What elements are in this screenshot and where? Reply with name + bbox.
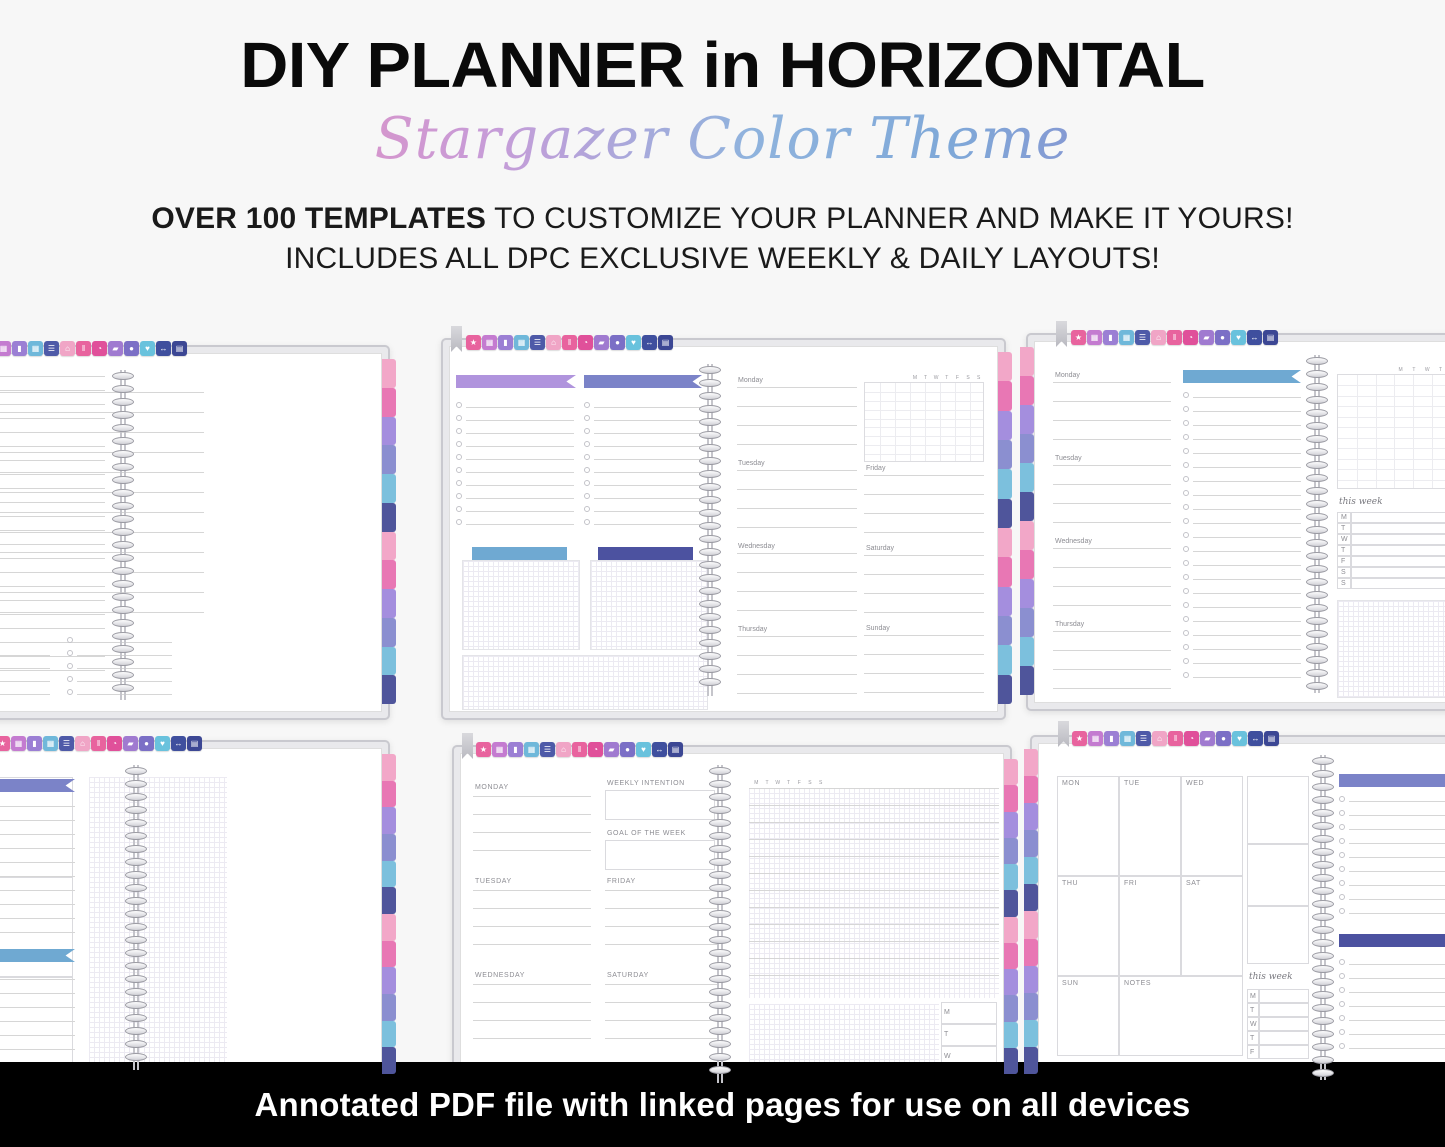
side-tab[interactable] (998, 499, 1012, 528)
side-tab[interactable] (1020, 666, 1034, 695)
checkbox-circle[interactable] (1339, 894, 1345, 900)
side-color-tabs[interactable] (1020, 347, 1034, 695)
mini-day-row[interactable] (941, 1024, 997, 1046)
side-tab[interactable] (382, 474, 396, 503)
side-tab[interactable] (1024, 749, 1038, 776)
star-icon[interactable]: ★ (476, 742, 491, 757)
list-icon[interactable]: ☰ (530, 335, 545, 350)
checkbox-circle[interactable] (1183, 392, 1189, 398)
side-tab[interactable] (998, 381, 1012, 410)
side-tab[interactable] (1020, 637, 1034, 666)
side-tab[interactable] (382, 647, 396, 676)
ruled-line (1053, 439, 1171, 440)
list-icon[interactable]: ☰ (540, 742, 555, 757)
home-icon[interactable]: ⌂ (1151, 330, 1166, 345)
spiral-coil (112, 554, 134, 562)
field-label: this week (1249, 972, 1293, 982)
checkbox-circle[interactable] (67, 637, 73, 643)
side-tab[interactable] (1004, 1048, 1018, 1074)
checkbox-circle[interactable] (1183, 574, 1189, 580)
spread-week-grid[interactable]: MONTUEWEDTHUFRISATSUNNOTESthis weekMTWTF… (1030, 735, 1445, 1090)
habit-tracker[interactable] (1337, 374, 1445, 489)
side-tab[interactable] (382, 781, 396, 808)
side-tab[interactable] (998, 528, 1012, 557)
grid-cell[interactable] (1247, 844, 1309, 906)
checkbox-circle[interactable] (1183, 532, 1189, 538)
book-icon[interactable]: ▤ (187, 736, 202, 751)
side-tab[interactable] (1024, 993, 1038, 1020)
side-tab[interactable] (998, 645, 1012, 674)
calendar-icon[interactable]: ▦ (1087, 330, 1102, 345)
this-week-row[interactable] (1351, 578, 1445, 589)
book-icon[interactable]: ▤ (1264, 731, 1279, 746)
pin-icon[interactable]: ● (1216, 731, 1231, 746)
lock-icon[interactable]: ▮ (1103, 330, 1118, 345)
checkbox-circle[interactable] (456, 506, 462, 512)
grid-area (1337, 600, 1445, 698)
calendar-icon[interactable]: ▦ (0, 341, 11, 356)
checkbox-circle[interactable] (1183, 658, 1189, 664)
side-color-tabs[interactable] (1024, 749, 1038, 1074)
grid-cell[interactable] (1119, 776, 1181, 876)
book-icon[interactable]: ▤ (658, 335, 673, 350)
side-color-tabs[interactable] (1004, 759, 1018, 1074)
calendar-icon[interactable]: ▦ (482, 335, 497, 350)
grid-cell[interactable] (1247, 776, 1309, 844)
side-tab[interactable] (1024, 884, 1038, 911)
side-tab[interactable] (1024, 857, 1038, 884)
home-icon[interactable]: ⌂ (556, 742, 571, 757)
side-tab[interactable] (998, 440, 1012, 469)
checkbox-circle[interactable] (1339, 973, 1345, 979)
grid-cell[interactable] (0, 877, 73, 977)
checkbox-circle[interactable] (1339, 810, 1345, 816)
side-tab[interactable] (1024, 911, 1038, 938)
book-icon[interactable]: ▤ (172, 341, 187, 356)
clock-icon[interactable]: ◔ (1184, 731, 1199, 746)
side-tab[interactable] (382, 675, 396, 704)
checklist-line (1349, 871, 1445, 872)
spread-daily-checklist[interactable]: MondayTuesdayWednesdayThursdayMTWTFSSthi… (1026, 333, 1445, 711)
heart-icon[interactable]: ♥ (155, 736, 170, 751)
checkbox-circle[interactable] (1339, 796, 1345, 802)
checkbox-circle[interactable] (67, 689, 73, 695)
folder-icon[interactable]: ▰ (604, 742, 619, 757)
side-tab[interactable] (1024, 1020, 1038, 1047)
star-icon[interactable]: ★ (466, 335, 481, 350)
checkbox-circle[interactable] (584, 493, 590, 499)
side-tab[interactable] (998, 557, 1012, 586)
checkbox-circle[interactable] (1183, 476, 1189, 482)
side-tab[interactable] (382, 503, 396, 532)
checkbox-circle[interactable] (67, 676, 73, 682)
calendar-icon[interactable]: ▦ (11, 736, 26, 751)
folder-icon[interactable]: ▰ (594, 335, 609, 350)
spiral-coil (699, 444, 721, 452)
side-tab[interactable] (1024, 966, 1038, 993)
field-label: T (1341, 547, 1345, 554)
tracker-col (940, 383, 941, 461)
grid-icon[interactable]: ▦ (1120, 731, 1135, 746)
side-tab[interactable] (382, 532, 396, 561)
star-icon[interactable]: ★ (0, 736, 10, 751)
this-week-row[interactable] (1351, 512, 1445, 523)
checkbox-circle[interactable] (584, 467, 590, 473)
checkbox-circle[interactable] (456, 441, 462, 447)
folder-icon[interactable]: ▰ (1200, 731, 1215, 746)
checkbox-circle[interactable] (584, 480, 590, 486)
spiral-coil (1306, 552, 1328, 560)
heart-icon[interactable]: ♥ (636, 742, 651, 757)
spread-monthly-checklist[interactable]: WEDSAT★▦▮▦☰⌂‖◔▰●♥↔▤ (0, 740, 390, 1090)
checkbox-circle[interactable] (584, 415, 590, 421)
home-icon[interactable]: ⌂ (1152, 731, 1167, 746)
side-tab[interactable] (1020, 376, 1034, 405)
side-tab[interactable] (382, 994, 396, 1021)
arrows-icon[interactable]: ↔ (642, 335, 657, 350)
clock-icon[interactable]: ◔ (578, 335, 593, 350)
side-tab[interactable] (998, 411, 1012, 440)
arrows-icon[interactable]: ↔ (171, 736, 186, 751)
grid-cell[interactable] (1247, 906, 1309, 964)
cutlery-icon[interactable]: ‖ (562, 335, 577, 350)
side-tab[interactable] (1004, 969, 1018, 995)
list-icon[interactable]: ☰ (1136, 731, 1151, 746)
grid-icon[interactable]: ▦ (514, 335, 529, 350)
home-icon[interactable]: ⌂ (60, 341, 75, 356)
grid-icon[interactable]: ▦ (28, 341, 43, 356)
cutlery-icon[interactable]: ‖ (1168, 731, 1183, 746)
side-tab[interactable] (1020, 492, 1034, 521)
list-icon[interactable]: ☰ (1135, 330, 1150, 345)
side-tab[interactable] (382, 967, 396, 994)
checklist-line (0, 806, 75, 807)
lock-icon[interactable]: ▮ (498, 335, 513, 350)
grid-area (462, 655, 708, 710)
side-tab[interactable] (382, 941, 396, 968)
cutlery-icon[interactable]: ‖ (572, 742, 587, 757)
clock-icon[interactable]: ◔ (588, 742, 603, 757)
side-tab[interactable] (382, 388, 396, 417)
checkbox-circle[interactable] (456, 454, 462, 460)
side-tab[interactable] (382, 914, 396, 941)
checkbox-circle[interactable] (456, 428, 462, 434)
side-tab[interactable] (1004, 812, 1018, 838)
pin-icon[interactable]: ● (610, 335, 625, 350)
tracker-day: S (815, 780, 826, 786)
heart-icon[interactable]: ♥ (1231, 330, 1246, 345)
checkbox-circle[interactable] (456, 519, 462, 525)
checkbox-circle[interactable] (1339, 824, 1345, 830)
pin-icon[interactable]: ● (620, 742, 635, 757)
habit-tracker[interactable] (864, 382, 984, 462)
side-tab[interactable] (998, 352, 1012, 381)
side-tab[interactable] (1020, 347, 1034, 376)
checkbox-circle[interactable] (1183, 672, 1189, 678)
list-icon[interactable]: ☰ (44, 341, 59, 356)
side-tab[interactable] (1024, 803, 1038, 830)
grid-cell[interactable] (1181, 776, 1243, 876)
grid-cell[interactable] (1181, 876, 1243, 976)
side-tab[interactable] (382, 1021, 396, 1048)
side-tab[interactable] (382, 861, 396, 888)
weekly-intention-box[interactable] (605, 790, 715, 820)
tracker-day: S (963, 375, 974, 381)
checkbox-circle[interactable] (1339, 1001, 1345, 1007)
checkbox-circle[interactable] (584, 506, 590, 512)
side-tab[interactable] (998, 587, 1012, 616)
arrows-icon[interactable]: ↔ (1248, 731, 1263, 746)
this-week-row[interactable] (1351, 534, 1445, 545)
side-tab[interactable] (1020, 550, 1034, 579)
checklist-line (1349, 1020, 1445, 1021)
checkbox-circle[interactable] (1183, 434, 1189, 440)
side-tab[interactable] (1004, 1022, 1018, 1048)
this-week-row[interactable] (1351, 556, 1445, 567)
side-tab[interactable] (1020, 579, 1034, 608)
side-tab[interactable] (1004, 890, 1018, 916)
ruled-line (737, 674, 857, 675)
cutlery-icon[interactable]: ‖ (76, 341, 91, 356)
home-icon[interactable]: ⌂ (75, 736, 90, 751)
folder-icon[interactable]: ▰ (1199, 330, 1214, 345)
grid-icon[interactable]: ▦ (43, 736, 58, 751)
this-week-row[interactable] (1351, 545, 1445, 556)
checklist-line (0, 848, 75, 849)
side-color-tabs[interactable] (382, 359, 396, 704)
side-tab[interactable] (1004, 759, 1018, 785)
spiral-coil (1306, 461, 1328, 469)
checkbox-circle[interactable] (1183, 448, 1189, 454)
folder-icon[interactable]: ▰ (108, 341, 123, 356)
side-tab[interactable] (1020, 463, 1034, 492)
checkbox-circle[interactable] (1339, 959, 1345, 965)
this-week-row[interactable] (1351, 567, 1445, 578)
spread-weekly-intention[interactable]: MONDAYTUESDAYWEDNESDAYTHURSDAYWEEKLY INT… (452, 745, 1012, 1090)
book-icon[interactable]: ▤ (668, 742, 683, 757)
lock-icon[interactable]: ▮ (508, 742, 523, 757)
this-week-row[interactable] (1259, 1045, 1309, 1059)
tagline-bold: OVER 100 TEMPLATES (151, 202, 486, 235)
side-tab[interactable] (382, 417, 396, 446)
side-tab[interactable] (382, 359, 396, 388)
heart-icon[interactable]: ♥ (626, 335, 641, 350)
grid-cell[interactable] (1057, 976, 1119, 1056)
checkbox-circle[interactable] (456, 467, 462, 473)
ruled-line (605, 944, 717, 945)
pin-icon[interactable]: ● (1215, 330, 1230, 345)
side-tab[interactable] (1024, 939, 1038, 966)
spiral-coil (1312, 1056, 1334, 1064)
tracker-row (865, 454, 983, 455)
clock-icon[interactable]: ◔ (1183, 330, 1198, 345)
side-tab[interactable] (1020, 521, 1034, 550)
checkbox-circle[interactable] (1183, 462, 1189, 468)
side-tab[interactable] (1024, 1047, 1038, 1074)
checkbox-circle[interactable] (456, 402, 462, 408)
side-tab[interactable] (1004, 838, 1018, 864)
checkbox-circle[interactable] (1183, 420, 1189, 426)
spread-checklist-grid[interactable]: MondayTuesdayWednesdayThursdayMTWTFSSFri… (441, 338, 1006, 720)
goal-of-week-box[interactable] (605, 840, 715, 870)
checkbox-circle[interactable] (1339, 838, 1345, 844)
side-color-tabs[interactable] (382, 754, 396, 1074)
grid-cell[interactable] (1057, 776, 1119, 876)
checkbox-circle[interactable] (1339, 1043, 1345, 1049)
spiral-coil (125, 832, 147, 840)
checklist-line (1349, 992, 1445, 993)
pin-icon[interactable]: ● (139, 736, 154, 751)
side-tab[interactable] (382, 807, 396, 834)
side-tab[interactable] (382, 445, 396, 474)
spiral-coil (1306, 539, 1328, 547)
checklist-line (1349, 1034, 1445, 1035)
checkbox-circle[interactable] (67, 650, 73, 656)
lock-icon[interactable]: ▮ (1104, 731, 1119, 746)
ruled-line (864, 475, 984, 476)
this-week-row[interactable] (1259, 1031, 1309, 1045)
side-tab[interactable] (1004, 995, 1018, 1021)
field-label: WEDNESDAY (475, 972, 525, 979)
checkbox-circle[interactable] (1339, 880, 1345, 886)
lock-icon[interactable]: ▮ (12, 341, 27, 356)
grid-icon[interactable]: ▦ (524, 742, 539, 757)
calendar-icon[interactable]: ▦ (492, 742, 507, 757)
grid-cell[interactable] (1119, 876, 1181, 976)
heart-icon[interactable]: ♥ (140, 341, 155, 356)
spiral-coil (125, 793, 147, 801)
side-tab[interactable] (998, 675, 1012, 704)
ruled-line (0, 586, 105, 587)
calendar-icon[interactable]: ▦ (1088, 731, 1103, 746)
spiral-coil (1306, 422, 1328, 430)
heart-icon[interactable]: ♥ (1232, 731, 1247, 746)
checkbox-circle[interactable] (1339, 852, 1345, 858)
book-icon[interactable]: ▤ (1263, 330, 1278, 345)
checkbox-circle[interactable] (456, 415, 462, 421)
side-tab[interactable] (382, 589, 396, 618)
checklist-line (466, 433, 574, 434)
spread-weekly-lined[interactable]: FridaySaturdaySundayTo Do★▦▮▦☰⌂‖◔▰●♥↔▤ (0, 345, 390, 720)
pin-icon[interactable]: ● (124, 341, 139, 356)
home-icon[interactable]: ⌂ (546, 335, 561, 350)
checkbox-circle[interactable] (67, 663, 73, 669)
folder-icon[interactable]: ▰ (123, 736, 138, 751)
spiral-coil (112, 424, 134, 432)
arrows-icon[interactable]: ↔ (1247, 330, 1262, 345)
side-tab[interactable] (382, 887, 396, 914)
spiral-coil (699, 392, 721, 400)
checkbox-circle[interactable] (1183, 560, 1189, 566)
checkbox-circle[interactable] (1183, 504, 1189, 510)
checkbox-circle[interactable] (584, 454, 590, 460)
cutlery-icon[interactable]: ‖ (1167, 330, 1182, 345)
checkbox-circle[interactable] (1183, 490, 1189, 496)
side-tab[interactable] (1020, 434, 1034, 463)
clock-icon[interactable]: ◔ (107, 736, 122, 751)
checkbox-circle[interactable] (584, 519, 590, 525)
grid-icon[interactable]: ▦ (1119, 330, 1134, 345)
arrows-icon[interactable]: ↔ (652, 742, 667, 757)
side-tab[interactable] (382, 834, 396, 861)
side-tab[interactable] (382, 1047, 396, 1074)
side-tab[interactable] (382, 754, 396, 781)
this-week-row[interactable] (1351, 523, 1445, 534)
ruled-line (749, 805, 999, 806)
spiral-coil (125, 897, 147, 905)
list-icon[interactable]: ☰ (59, 736, 74, 751)
grid-cell[interactable] (1057, 876, 1119, 976)
this-week-row[interactable] (1259, 1017, 1309, 1031)
checkbox-circle[interactable] (1339, 866, 1345, 872)
spiral-coil (699, 639, 721, 647)
checkbox-circle[interactable] (1183, 616, 1189, 622)
checkbox-circle[interactable] (584, 402, 590, 408)
tracker-day: S (805, 780, 816, 786)
ruled-line (1053, 650, 1171, 651)
side-color-tabs[interactable] (998, 352, 1012, 704)
side-tab[interactable] (1004, 785, 1018, 811)
checkbox-circle[interactable] (1339, 1029, 1345, 1035)
checklist-line (594, 433, 700, 434)
side-tab[interactable] (382, 560, 396, 589)
side-tab[interactable] (1020, 405, 1034, 434)
checkbox-circle[interactable] (1339, 987, 1345, 993)
lock-icon[interactable]: ▮ (27, 736, 42, 751)
ruled-line (1053, 484, 1171, 485)
field-label: F (1250, 1049, 1254, 1056)
checkbox-circle[interactable] (1183, 406, 1189, 412)
checkbox-circle[interactable] (1339, 908, 1345, 914)
side-tab[interactable] (1024, 776, 1038, 803)
checkbox-circle[interactable] (456, 480, 462, 486)
star-icon[interactable]: ★ (1072, 731, 1087, 746)
clock-icon[interactable]: ◔ (92, 341, 107, 356)
side-tab[interactable] (1020, 608, 1034, 637)
checkbox-circle[interactable] (1183, 588, 1189, 594)
checkbox-circle[interactable] (1183, 602, 1189, 608)
this-week-row[interactable] (1259, 1003, 1309, 1017)
checkbox-circle[interactable] (584, 428, 590, 434)
this-week-row[interactable] (1259, 989, 1309, 1003)
arrows-icon[interactable]: ↔ (156, 341, 171, 356)
tracker-day-header: MTWTFSS (910, 375, 984, 381)
spiral-coil (125, 780, 147, 788)
side-tab[interactable] (998, 469, 1012, 498)
ruled-line (473, 984, 591, 985)
checkbox-circle[interactable] (1183, 546, 1189, 552)
grid-cell[interactable] (1119, 976, 1243, 1056)
side-tab[interactable] (1004, 864, 1018, 890)
side-tab[interactable] (1004, 917, 1018, 943)
checkbox-circle[interactable] (1183, 518, 1189, 524)
side-tab[interactable] (382, 618, 396, 647)
checkbox-circle[interactable] (584, 441, 590, 447)
checkbox-circle[interactable] (456, 493, 462, 499)
tracker-col (1376, 375, 1377, 488)
star-icon[interactable]: ★ (1071, 330, 1086, 345)
side-tab[interactable] (998, 616, 1012, 645)
spiral-coil (1306, 604, 1328, 612)
checkbox-circle[interactable] (1339, 1015, 1345, 1021)
checkbox-circle[interactable] (1183, 644, 1189, 650)
spiral-coil (699, 457, 721, 465)
side-tab[interactable] (1004, 943, 1018, 969)
cutlery-icon[interactable]: ‖ (91, 736, 106, 751)
field-label: FRIDAY (607, 878, 636, 885)
side-tab[interactable] (1024, 830, 1038, 857)
checkbox-circle[interactable] (1183, 630, 1189, 636)
